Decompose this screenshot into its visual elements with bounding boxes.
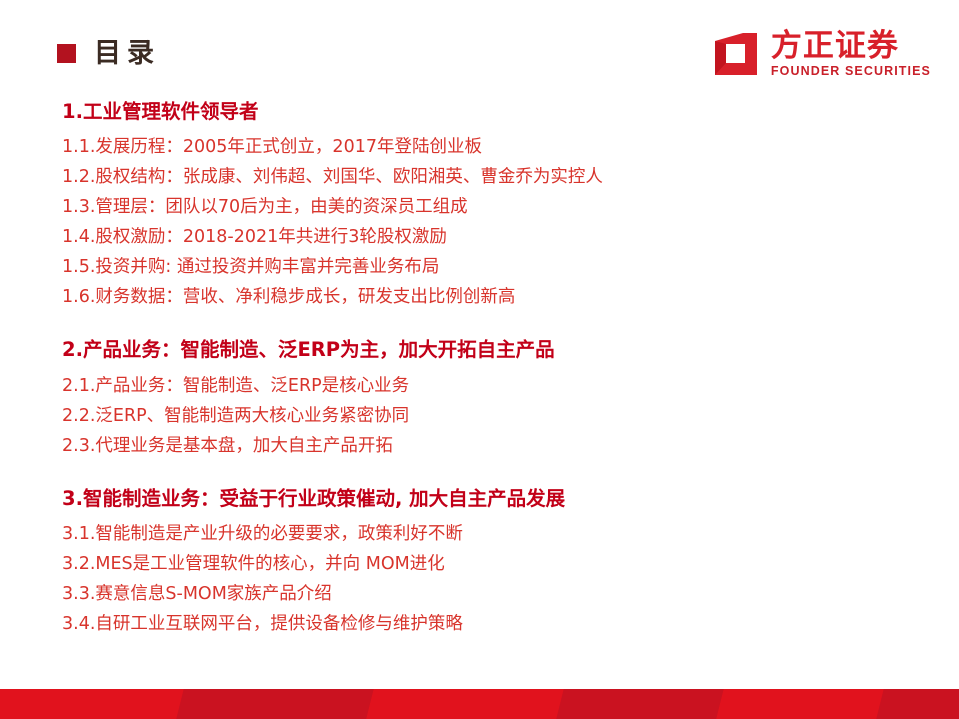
brand-logo-text: 方正证券 FOUNDER SECURITIES <box>771 30 931 79</box>
toc-section-2: 2.产品业务：智能制造、泛ERP为主，加大开拓自主产品 2.1.产品业务：智能制… <box>62 338 922 460</box>
bar-segment <box>556 689 723 719</box>
toc-item[interactable]: 1.2.股权结构：张成康、刘伟超、刘国华、欧阳湘英、曹金乔为实控人 <box>62 162 922 192</box>
bar-segment <box>0 689 184 719</box>
toc-section-1: 1.工业管理软件领导者 1.1.发展历程：2005年正式创立，2017年登陆创业… <box>62 100 922 312</box>
toc-item[interactable]: 1.1.发展历程：2005年正式创立，2017年登陆创业板 <box>62 132 922 162</box>
page-title: 目录 <box>94 40 160 67</box>
slide-root: 目录 方正证券 FOUNDER SECURITIES 1.工业管理软件领导者 1… <box>0 0 959 719</box>
bar-segment <box>716 689 883 719</box>
brand-name-en: FOUNDER SECURITIES <box>771 63 931 79</box>
slide-header: 目录 方正证券 FOUNDER SECURITIES <box>0 28 959 88</box>
bottom-decorative-bar <box>0 689 959 719</box>
toc-section-items: 2.1.产品业务：智能制造、泛ERP是核心业务 2.2.泛ERP、智能制造两大核… <box>62 371 922 461</box>
toc-item[interactable]: 2.1.产品业务：智能制造、泛ERP是核心业务 <box>62 371 922 401</box>
toc-item[interactable]: 3.3.赛意信息S-MOM家族产品介绍 <box>62 579 922 609</box>
founder-securities-logo-mark <box>713 31 759 77</box>
toc-section-items: 3.1.智能制造是产业升级的必要要求，政策利好不断 3.2.MES是工业管理软件… <box>62 519 922 639</box>
bar-segment <box>876 689 959 719</box>
toc-item[interactable]: 3.2.MES是工业管理软件的核心，并向 MOM进化 <box>62 549 922 579</box>
toc-item[interactable]: 1.3.管理层：团队以70后为主，由美的资深员工组成 <box>62 192 922 222</box>
page-title-group: 目录 <box>57 40 160 67</box>
title-bullet-square <box>57 44 76 63</box>
toc-section-3: 3.智能制造业务：受益于行业政策催动, 加大自主产品发展 3.1.智能制造是产业… <box>62 487 922 639</box>
toc-item[interactable]: 1.5.投资并购: 通过投资并购丰富并完善业务布局 <box>62 252 922 282</box>
toc-section-heading[interactable]: 3.智能制造业务：受益于行业政策催动, 加大自主产品发展 <box>62 487 922 511</box>
toc-section-items: 1.1.发展历程：2005年正式创立，2017年登陆创业板 1.2.股权结构：张… <box>62 132 922 312</box>
toc-section-heading[interactable]: 2.产品业务：智能制造、泛ERP为主，加大开拓自主产品 <box>62 338 922 362</box>
toc-item[interactable]: 2.3.代理业务是基本盘，加大自主产品开拓 <box>62 431 922 461</box>
toc-item[interactable]: 1.6.财务数据：营收、净利稳步成长，研发支出比例创新高 <box>62 282 922 312</box>
bar-segment <box>366 689 563 719</box>
toc-section-heading[interactable]: 1.工业管理软件领导者 <box>62 100 922 124</box>
table-of-contents: 1.工业管理软件领导者 1.1.发展历程：2005年正式创立，2017年登陆创业… <box>62 100 922 643</box>
brand-logo: 方正证券 FOUNDER SECURITIES <box>713 30 931 79</box>
bar-segment <box>176 689 373 719</box>
brand-name-cn: 方正证券 <box>771 30 931 63</box>
toc-item[interactable]: 2.2.泛ERP、智能制造两大核心业务紧密协同 <box>62 401 922 431</box>
toc-item[interactable]: 3.1.智能制造是产业升级的必要要求，政策利好不断 <box>62 519 922 549</box>
toc-item[interactable]: 1.4.股权激励：2018-2021年共进行3轮股权激励 <box>62 222 922 252</box>
toc-item[interactable]: 3.4.自研工业互联网平台，提供设备检修与维护策略 <box>62 609 922 639</box>
